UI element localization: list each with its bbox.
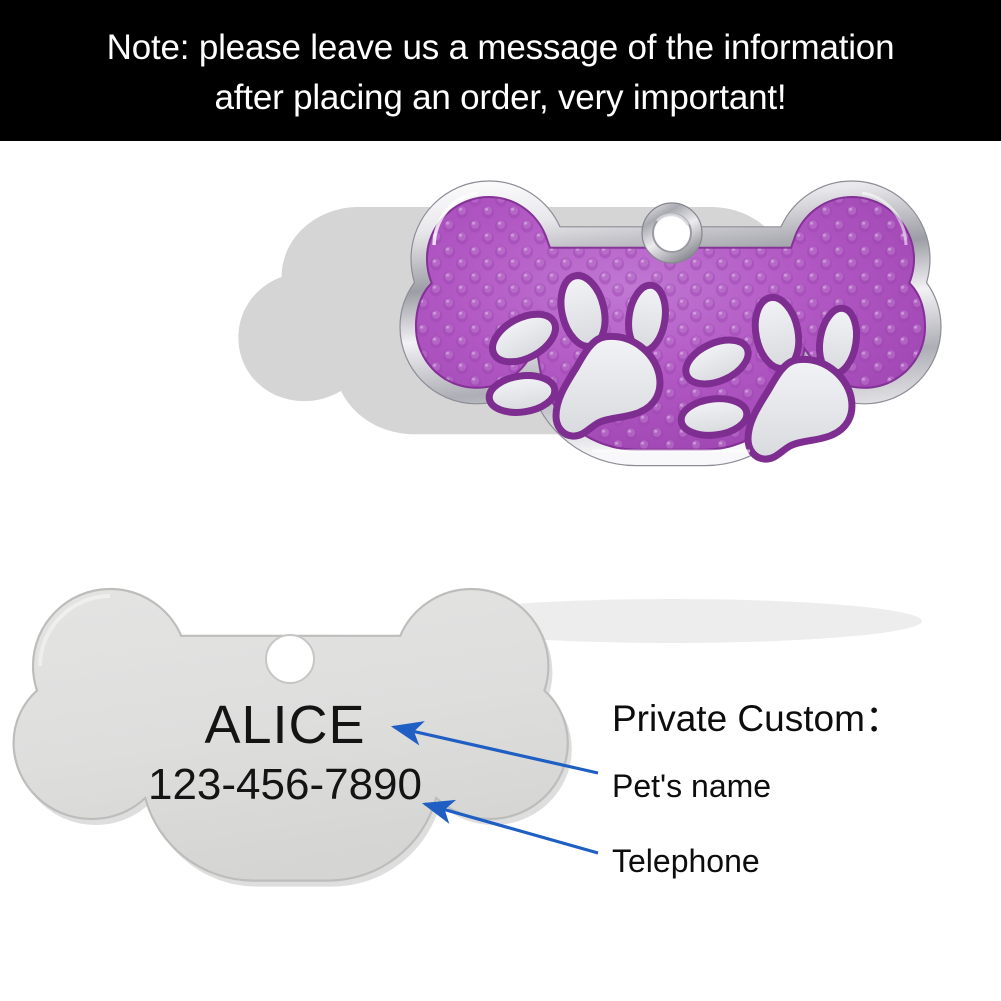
note-banner: Note: please leave us a message of the i…	[0, 0, 1001, 141]
gray-bone-tag	[14, 589, 572, 887]
note-line-2: after placing an order, very important!	[215, 73, 787, 123]
gray-tag-hole	[266, 635, 314, 683]
private-custom-heading: Private Custom：	[612, 697, 982, 741]
note-line-1: Note: please leave us a message of the i…	[107, 23, 895, 73]
annotation-label-telephone: Telephone	[612, 842, 982, 880]
artwork-stage: ALICE 123-456-7890 Private Custom： Pet's…	[0, 141, 1001, 1001]
annotation-label-pet-name: Pet's name	[612, 767, 982, 805]
gray-tag-body	[14, 589, 568, 881]
annotation-block: Private Custom： Pet's name Telephone	[612, 697, 982, 880]
purple-bone-tag	[238, 181, 1001, 643]
tag-hole-grommet	[642, 203, 702, 263]
